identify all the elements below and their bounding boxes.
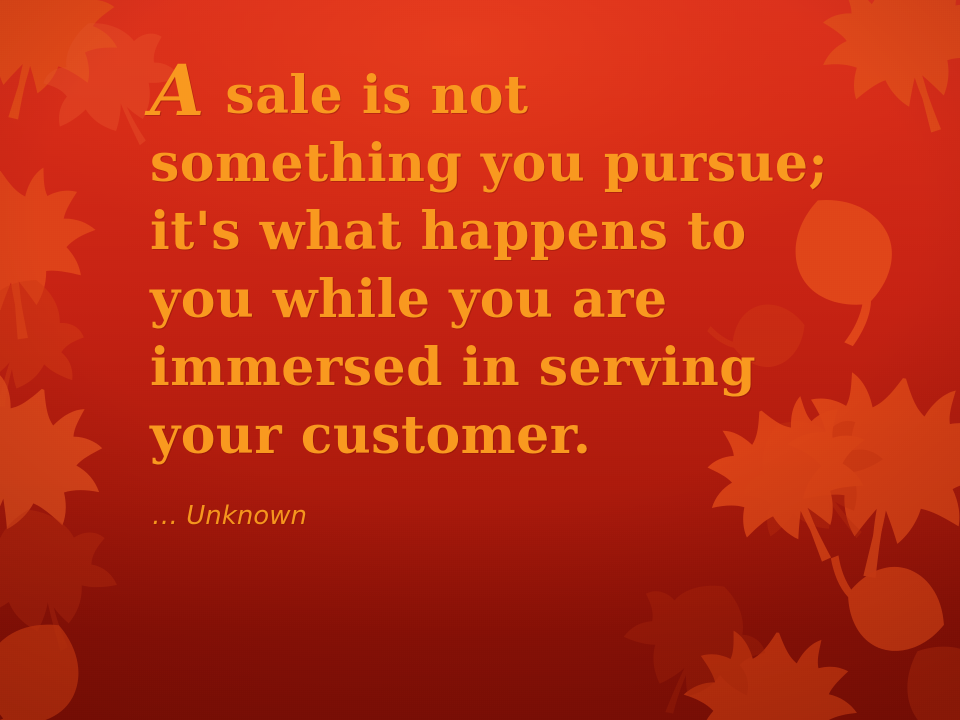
quote-line-1-text: sale is not <box>207 65 529 126</box>
quote-line-2: something you pursue; <box>150 130 850 198</box>
quote-text-block: A sale is not something you pursue; it's… <box>150 62 850 470</box>
quote-line-5: immersed in serving <box>150 334 850 402</box>
quote-line-6: your customer. <box>150 402 850 470</box>
quote-slide: A sale is not something you pursue; it's… <box>0 0 960 720</box>
quote-line-4: you while you are <box>150 266 850 334</box>
quote-attribution: … Unknown <box>152 500 307 532</box>
quote-line-3: it's what happens to <box>150 198 850 266</box>
quote-line-1: A sale is not <box>150 62 850 130</box>
quote-drop-cap: A <box>150 49 207 132</box>
